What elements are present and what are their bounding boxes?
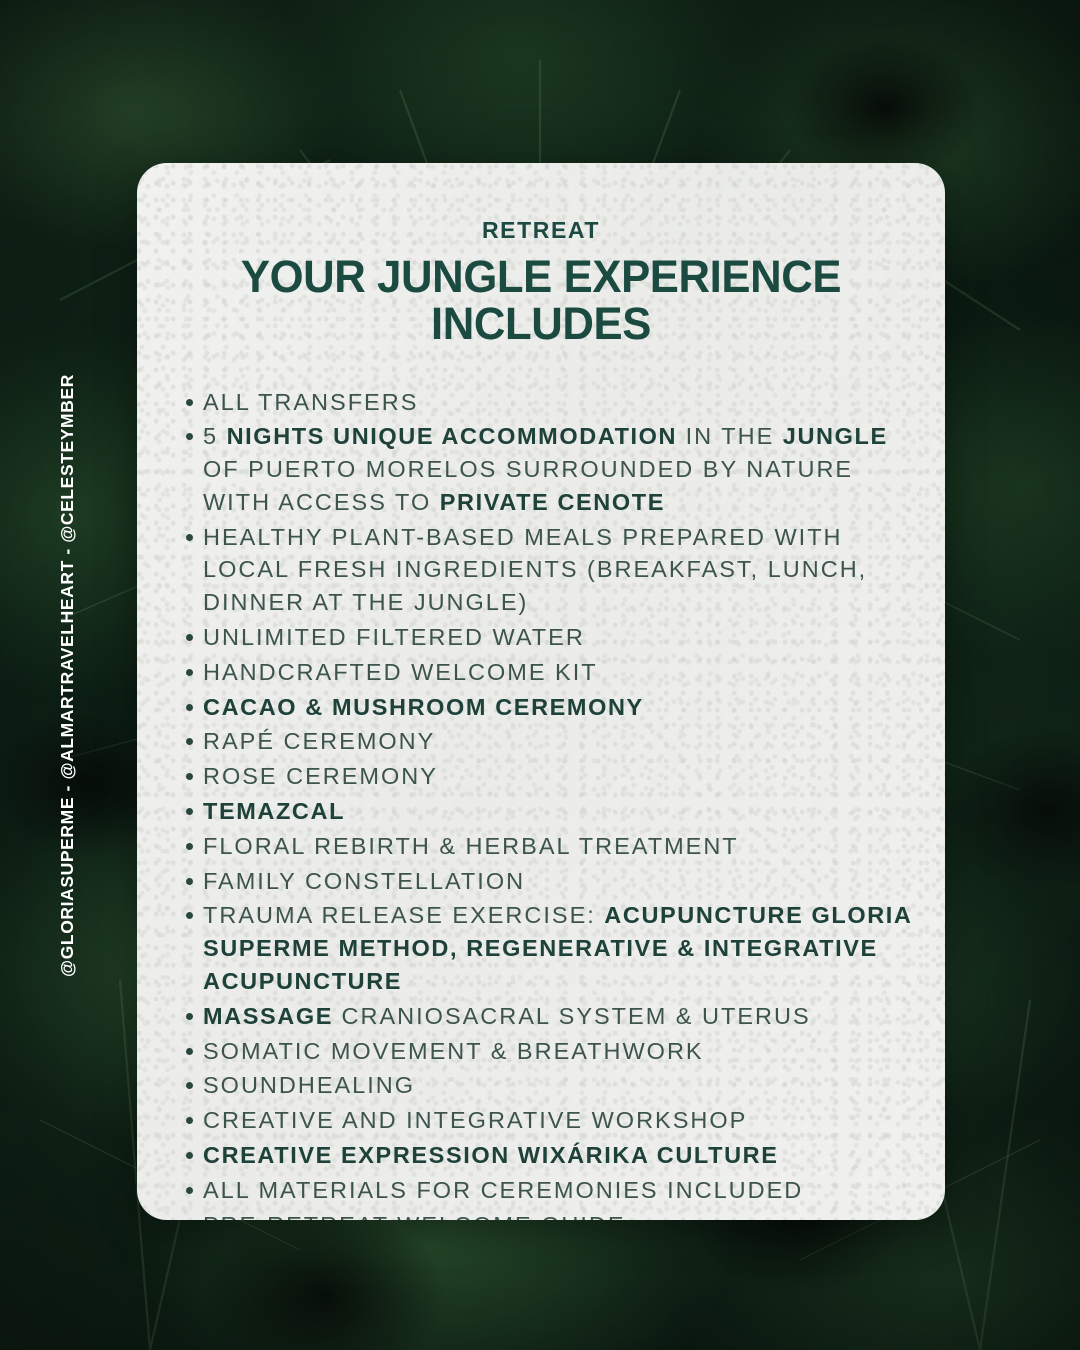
feature-item: ALL TRANSFERS bbox=[186, 386, 915, 419]
feature-item: CACAO & MUSHROOM CEREMONY bbox=[186, 691, 915, 724]
feature-emphasis: ACUPUNCTURE GLORIA SUPERME METHOD, REGEN… bbox=[203, 902, 912, 994]
page-title: YOUR JUNGLE EXPERIENCE INCLUDES bbox=[149, 253, 933, 348]
feature-emphasis: MASSAGE bbox=[203, 1003, 333, 1029]
feature-item: CREATIVE AND INTEGRATIVE WORKSHOP bbox=[186, 1104, 915, 1137]
feature-item: MASSAGE CRANIOSACRAL SYSTEM & UTERUS bbox=[186, 1000, 915, 1033]
feature-item: RAPÉ CEREMONY bbox=[186, 725, 915, 758]
feature-item: TRAUMA RELEASE EXERCISE: ACUPUNCTURE GLO… bbox=[186, 899, 915, 997]
feature-item: HEALTHY PLANT-BASED MEALS PREPARED WITH … bbox=[186, 521, 915, 619]
feature-emphasis: PRIVATE CENOTE bbox=[440, 489, 665, 515]
feature-item: FAMILY CONSTELLATION bbox=[186, 865, 915, 898]
feature-emphasis: JUNGLE bbox=[783, 423, 888, 449]
feature-item: SOMATIC MOVEMENT & BREATHWORK bbox=[186, 1035, 915, 1068]
eyebrow-label: RETREAT bbox=[137, 217, 945, 244]
feature-item: PRE-RETREAT WELCOME GUIDE bbox=[186, 1209, 915, 1220]
features-list: ALL TRANSFERS5 NIGHTS UNIQUE ACCOMMODATI… bbox=[137, 386, 945, 1221]
feature-emphasis: NIGHTS UNIQUE ACCOMMODATION bbox=[227, 423, 678, 449]
feature-item: HANDCRAFTED WELCOME KIT bbox=[186, 656, 915, 689]
social-credit-strip: @GLORIASUPERME - @ALMARTRAVELHEART - @CE… bbox=[44, 0, 90, 1350]
feature-item: SOUNDHEALING bbox=[186, 1069, 915, 1102]
feature-item: UNLIMITED FILTERED WATER bbox=[186, 621, 915, 654]
feature-item: ALL MATERIALS FOR CEREMONIES INCLUDED bbox=[186, 1174, 915, 1207]
feature-item: CREATIVE EXPRESSION WIXÁRIKA CULTURE bbox=[186, 1139, 915, 1172]
poster-canvas: @GLORIASUPERME - @ALMARTRAVELHEART - @CE… bbox=[0, 0, 1080, 1350]
feature-item: TEMAZCAL bbox=[186, 795, 915, 828]
feature-item: 5 NIGHTS UNIQUE ACCOMMODATION IN THE JUN… bbox=[186, 420, 915, 518]
feature-item: FLORAL REBIRTH & HERBAL TREATMENT bbox=[186, 830, 915, 863]
social-credit-text: @GLORIASUPERME - @ALMARTRAVELHEART - @CE… bbox=[57, 374, 78, 977]
content-card: RETREAT YOUR JUNGLE EXPERIENCE INCLUDES … bbox=[137, 163, 945, 1220]
feature-item: ROSE CEREMONY bbox=[186, 760, 915, 793]
